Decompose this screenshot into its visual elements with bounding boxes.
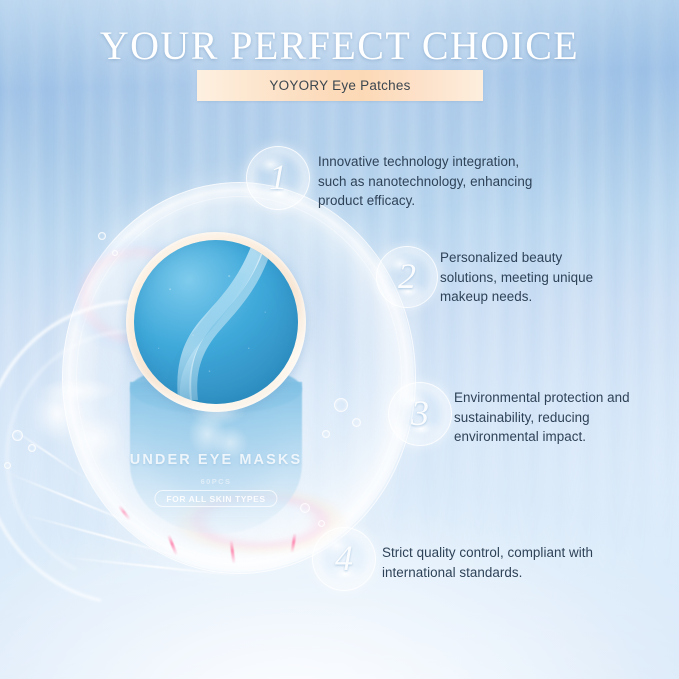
bullet-text-3: Environmental protection and sustainabil…: [454, 388, 674, 447]
patch-gel-disc: [134, 240, 298, 404]
patch-sparkle-overlay: [134, 240, 298, 404]
product-label-title: UNDER EYE MASKS: [118, 452, 314, 468]
product-label-count: 60PCS: [118, 477, 314, 486]
bullet-number-3: 3: [411, 392, 429, 434]
bullet-bubble-2[interactable]: 2: [376, 246, 438, 308]
bullet-number-2: 2: [398, 255, 416, 297]
bullet-text-2: Personalized beauty solutions, meeting u…: [440, 248, 660, 307]
page-title: YOUR PERFECT CHOICE: [0, 22, 679, 69]
bullet-bubble-1[interactable]: 1: [246, 146, 310, 210]
bullet-number-4: 4: [335, 537, 353, 579]
infographic-canvas: YOUR PERFECT CHOICE YOYORY Eye Patches: [0, 0, 679, 679]
bullet-bubble-4[interactable]: 4: [312, 527, 376, 591]
subtitle-text: YOYORY Eye Patches: [269, 78, 410, 93]
product-label-skin-types: FOR ALL SKIN TYPES: [154, 490, 277, 507]
bullet-number-1: 1: [269, 156, 287, 198]
bullet-bubble-3[interactable]: 3: [388, 382, 452, 446]
subtitle-banner: YOYORY Eye Patches: [197, 70, 483, 101]
product-image: R N UNDER EYE MASKS 60PCS FOR ALL SKIN T…: [118, 232, 314, 522]
bullet-text-1: Innovative technology integration, such …: [318, 152, 568, 211]
bullet-text-4: Strict quality control, compliant with i…: [382, 543, 662, 582]
